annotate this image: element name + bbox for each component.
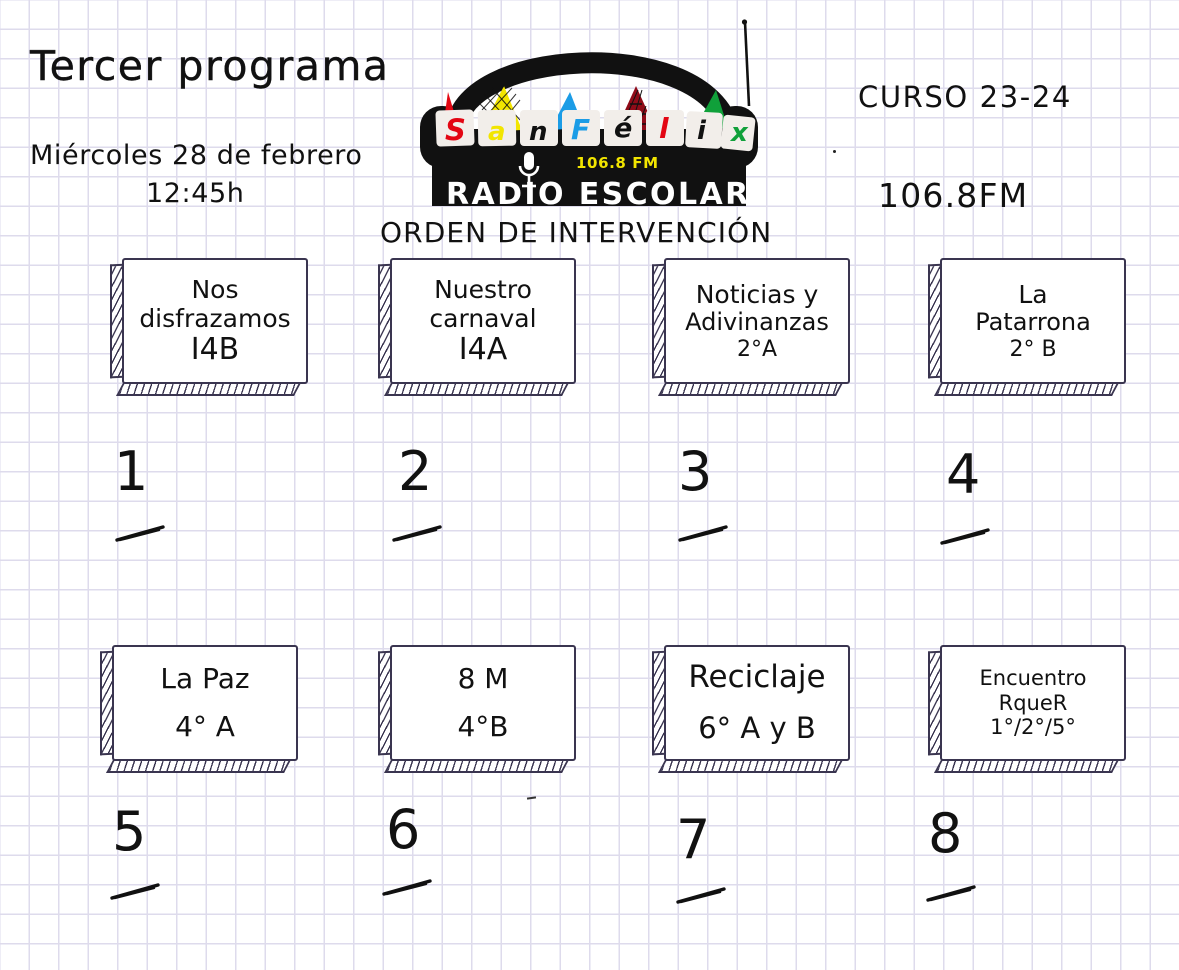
card-line-3: 2° B xyxy=(1009,337,1056,363)
order-number: 4 xyxy=(946,443,980,506)
letter-tiles xyxy=(435,109,755,151)
card-line-3: 4° A xyxy=(175,711,235,743)
card-line-2: RqueR xyxy=(999,691,1068,715)
logo-tagline: RADIO ESCOLAR xyxy=(446,177,751,212)
card-line-1: 8 M xyxy=(458,663,509,695)
card-line-3: 6° A y B xyxy=(698,712,816,746)
school-year-label: CURSO 23-24 xyxy=(858,80,1072,114)
program-card[interactable]: 8 M 4°B xyxy=(378,645,576,773)
stray-ink-dot xyxy=(833,150,836,153)
underline-mark xyxy=(392,524,444,542)
card-line-3: I4B xyxy=(191,333,240,368)
underline-mark xyxy=(678,524,730,542)
order-number: 2 xyxy=(398,440,432,503)
order-number: 7 xyxy=(676,808,710,871)
card-text: Noticias y Adivinanzas 2°A xyxy=(666,258,848,384)
section-subtitle: ORDEN DE INTERVENCIÓN xyxy=(380,216,772,249)
radio-frequency-label: 106.8FM xyxy=(878,176,1028,215)
program-card[interactable]: Reciclaje 6° A y B xyxy=(652,645,850,773)
card-line-2: disfrazamos xyxy=(139,304,290,333)
radio-sanfelix-logo: S a n F é l i x 106.8 FM RADIO ESCOLAR xyxy=(398,14,778,219)
card-text: Nuestro carnaval I4A xyxy=(392,258,574,384)
program-time: 12:45h xyxy=(146,178,245,209)
stray-ink-dash xyxy=(527,796,536,799)
page-title: Tercer programa xyxy=(30,42,390,90)
logo-frequency: 106.8 FM xyxy=(576,154,659,172)
program-card[interactable]: La Paz 4° A xyxy=(100,645,298,773)
card-line-1: Nos xyxy=(191,275,238,304)
card-text: Encuentro RqueR 1°/2°/5° xyxy=(942,645,1124,761)
card-line-2: Adivinanzas xyxy=(685,309,829,337)
underline-mark xyxy=(115,524,167,542)
order-number: 5 xyxy=(112,800,146,863)
order-number: 1 xyxy=(114,440,148,503)
order-number: 3 xyxy=(678,440,712,503)
card-text: Nos disfrazamos I4B xyxy=(124,258,306,384)
program-date: Miércoles 28 de febrero xyxy=(30,140,363,171)
card-line-1: Noticias y xyxy=(696,280,819,309)
underline-mark xyxy=(382,878,434,896)
card-line-2: Patarrona xyxy=(975,309,1091,337)
worksheet-page: Tercer programa Miércoles 28 de febrero … xyxy=(0,0,1179,970)
program-card[interactable]: La Patarrona 2° B xyxy=(928,258,1126,396)
underline-mark xyxy=(926,884,978,902)
program-card[interactable]: Nuestro carnaval I4A xyxy=(378,258,576,396)
program-card[interactable]: Nos disfrazamos I4B xyxy=(110,258,308,396)
order-number: 8 xyxy=(928,802,962,865)
program-card[interactable]: Noticias y Adivinanzas 2°A xyxy=(652,258,850,396)
underline-mark xyxy=(110,882,162,900)
underline-mark xyxy=(940,527,992,545)
card-text: La Paz 4° A xyxy=(114,645,296,761)
card-line-1: La xyxy=(1018,280,1047,309)
card-line-1: La Paz xyxy=(160,663,249,695)
card-line-2: carnaval xyxy=(429,304,536,333)
program-card[interactable]: Encuentro RqueR 1°/2°/5° xyxy=(928,645,1126,773)
card-text: Reciclaje 6° A y B xyxy=(666,645,848,761)
card-line-1: Nuestro xyxy=(434,275,532,304)
card-line-3: I4A xyxy=(459,333,507,368)
card-line-1: Encuentro xyxy=(980,666,1087,690)
card-line-1: Reciclaje xyxy=(688,660,825,696)
order-number: 6 xyxy=(386,798,420,861)
card-line-3: 1°/2°/5° xyxy=(990,715,1076,739)
card-text: 8 M 4°B xyxy=(392,645,574,761)
underline-mark xyxy=(676,886,728,904)
card-line-3: 4°B xyxy=(457,711,508,743)
card-line-3: 2°A xyxy=(737,337,777,363)
antenna-icon xyxy=(745,22,749,106)
card-text: La Patarrona 2° B xyxy=(942,258,1124,384)
